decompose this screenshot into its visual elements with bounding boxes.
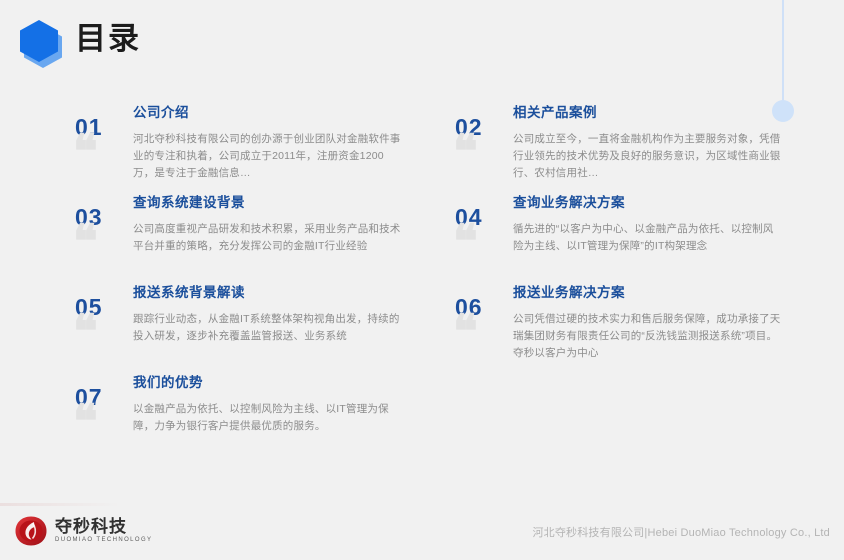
logo-name-cn: 夺秒科技 [55,517,152,536]
toc-title: 查询系统建设背景 [133,194,401,212]
toc-description: 循先进的“以客户为中心、以金融产品为依托、以控制风险为主线、以IT管理为保障”的… [513,221,781,255]
logo-name-en: DUOMIAO TECHNOLOGY [55,536,152,545]
page-title: 目录 [75,18,141,60]
toc-row: 07 ❝ 我们的优势 以金融产品为依托、以控制风险为主线、以IT管理为保障，力争… [0,374,844,464]
toc-description: 公司成立至今，一直将金融机构作为主要服务对象，凭借行业领先的技术优势及良好的服务… [513,131,781,182]
slide-header: 目录 [0,0,844,86]
toc-title: 公司介绍 [133,104,401,122]
hexagon-icon [18,18,64,66]
footer-accent-bar [0,503,120,506]
quote-icon: ❝ [73,134,98,170]
quote-icon: ❝ [453,314,478,350]
slide-root: 目录 01 ❝ 公司介绍 河北夺秒科技有限公司的创办源于创业团队对金融软件事业的… [0,0,844,560]
toc-description: 以金融产品为依托、以控制风险为主线、以IT管理为保障，力争为银行客户提供最优质的… [133,401,401,435]
toc-row: 05 ❝ 报送系统背景解读 跟踪行业动态，从金融IT系统整体架构视角出发，持续的… [0,284,844,374]
footer-company-line: 河北夺秒科技有限公司|Hebei DuoMiao Technology Co.,… [532,524,830,540]
toc-title: 查询业务解决方案 [513,194,781,212]
toc-row: 01 ❝ 公司介绍 河北夺秒科技有限公司的创办源于创业团队对金融软件事业的专注和… [0,104,844,194]
toc-description: 公司高度重视产品研发和技术积累，采用业务产品和技术平台并重的策略，充分发挥公司的… [133,221,401,255]
toc-list: 01 ❝ 公司介绍 河北夺秒科技有限公司的创办源于创业团队对金融软件事业的专注和… [0,104,844,464]
duomiao-logo-icon [14,515,48,547]
toc-title: 报送系统背景解读 [133,284,401,302]
company-logo: 夺秒科技 DUOMIAO TECHNOLOGY [14,514,152,548]
toc-title: 我们的优势 [133,374,401,392]
quote-icon: ❝ [73,224,98,260]
toc-description: 跟踪行业动态，从金融IT系统整体架构视角出发，持续的投入研发，逐步补充覆盖监管报… [133,311,401,345]
slide-footer: 夺秒科技 DUOMIAO TECHNOLOGY 河北夺秒科技有限公司|Hebei… [0,492,844,560]
toc-description: 河北夺秒科技有限公司的创办源于创业团队对金融软件事业的专注和执着，公司成立于20… [133,131,401,182]
quote-icon: ❝ [453,134,478,170]
toc-title: 报送业务解决方案 [513,284,781,302]
quote-icon: ❝ [73,314,98,350]
toc-description: 公司凭借过硬的技术实力和售后服务保障，成功承接了天瑞集团财务有限责任公司的“反洗… [513,311,781,362]
quote-icon: ❝ [453,224,478,260]
toc-row: 03 ❝ 查询系统建设背景 公司高度重视产品研发和技术积累，采用业务产品和技术平… [0,194,844,284]
toc-title: 相关产品案例 [513,104,781,122]
quote-icon: ❝ [73,404,98,440]
